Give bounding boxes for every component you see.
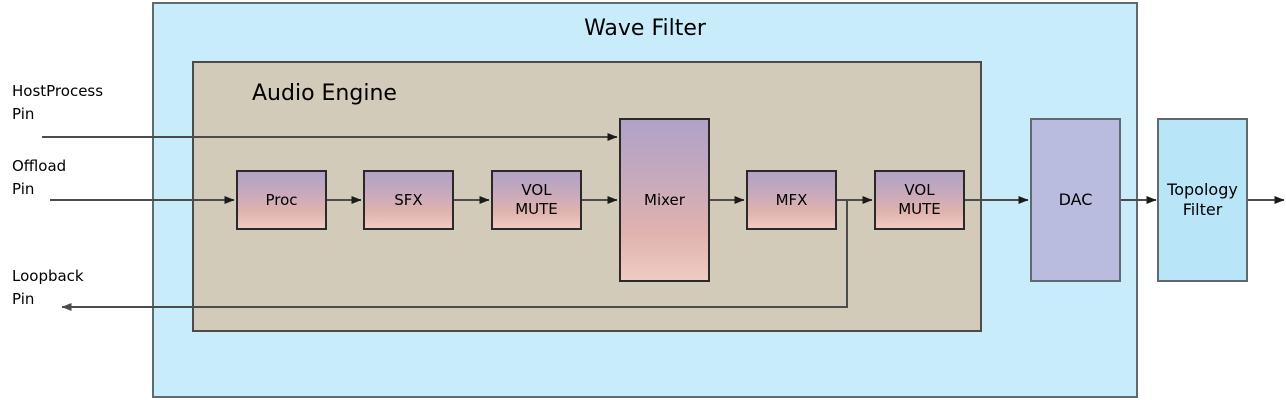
hostprocess-pin-label: HostProcess Pin <box>12 80 103 127</box>
node-dac-label: DAC <box>1059 190 1093 210</box>
node-dac[interactable]: DAC <box>1030 118 1121 282</box>
hostprocess-pin-label-line2: Pin <box>12 103 103 126</box>
node-vol-mute-1-line2: MUTE <box>515 200 558 218</box>
node-vol-mute-1-label: VOL MUTE <box>515 181 558 219</box>
node-topology-filter-line1: Topology <box>1167 180 1238 199</box>
offload-pin-label-line2: Pin <box>12 178 66 201</box>
offload-pin-label-line1: Offload <box>12 155 66 178</box>
node-mfx-label: MFX <box>776 191 808 210</box>
node-vol-mute-2[interactable]: VOL MUTE <box>874 170 965 230</box>
offload-pin-label: Offload Pin <box>12 155 66 202</box>
node-topology-filter[interactable]: Topology Filter <box>1157 118 1248 282</box>
node-mixer-label: Mixer <box>644 191 685 210</box>
node-vol-mute-2-line2: MUTE <box>898 200 941 218</box>
loopback-pin-label: Loopback Pin <box>12 265 84 312</box>
audio-engine-title: Audio Engine <box>252 83 397 105</box>
node-proc[interactable]: Proc <box>236 170 327 230</box>
node-vol-mute-2-label: VOL MUTE <box>898 181 941 219</box>
node-vol-mute-2-line1: VOL <box>904 181 934 199</box>
node-vol-mute-1-line1: VOL <box>521 181 551 199</box>
node-topology-filter-line2: Filter <box>1183 200 1223 219</box>
hostprocess-pin-label-line1: HostProcess <box>12 80 103 103</box>
node-vol-mute-1[interactable]: VOL MUTE <box>491 170 582 230</box>
node-mixer[interactable]: Mixer <box>619 118 710 282</box>
node-topology-filter-label: Topology Filter <box>1167 180 1238 220</box>
node-sfx[interactable]: SFX <box>363 170 454 230</box>
diagram-canvas: Wave Filter Audio Engine HostProcess Pin… <box>0 0 1286 400</box>
node-proc-label: Proc <box>265 191 297 210</box>
loopback-pin-label-line2: Pin <box>12 288 84 311</box>
wave-filter-title: Wave Filter <box>152 18 1138 40</box>
node-sfx-label: SFX <box>394 191 422 210</box>
loopback-pin-label-line1: Loopback <box>12 265 84 288</box>
node-mfx[interactable]: MFX <box>746 170 837 230</box>
